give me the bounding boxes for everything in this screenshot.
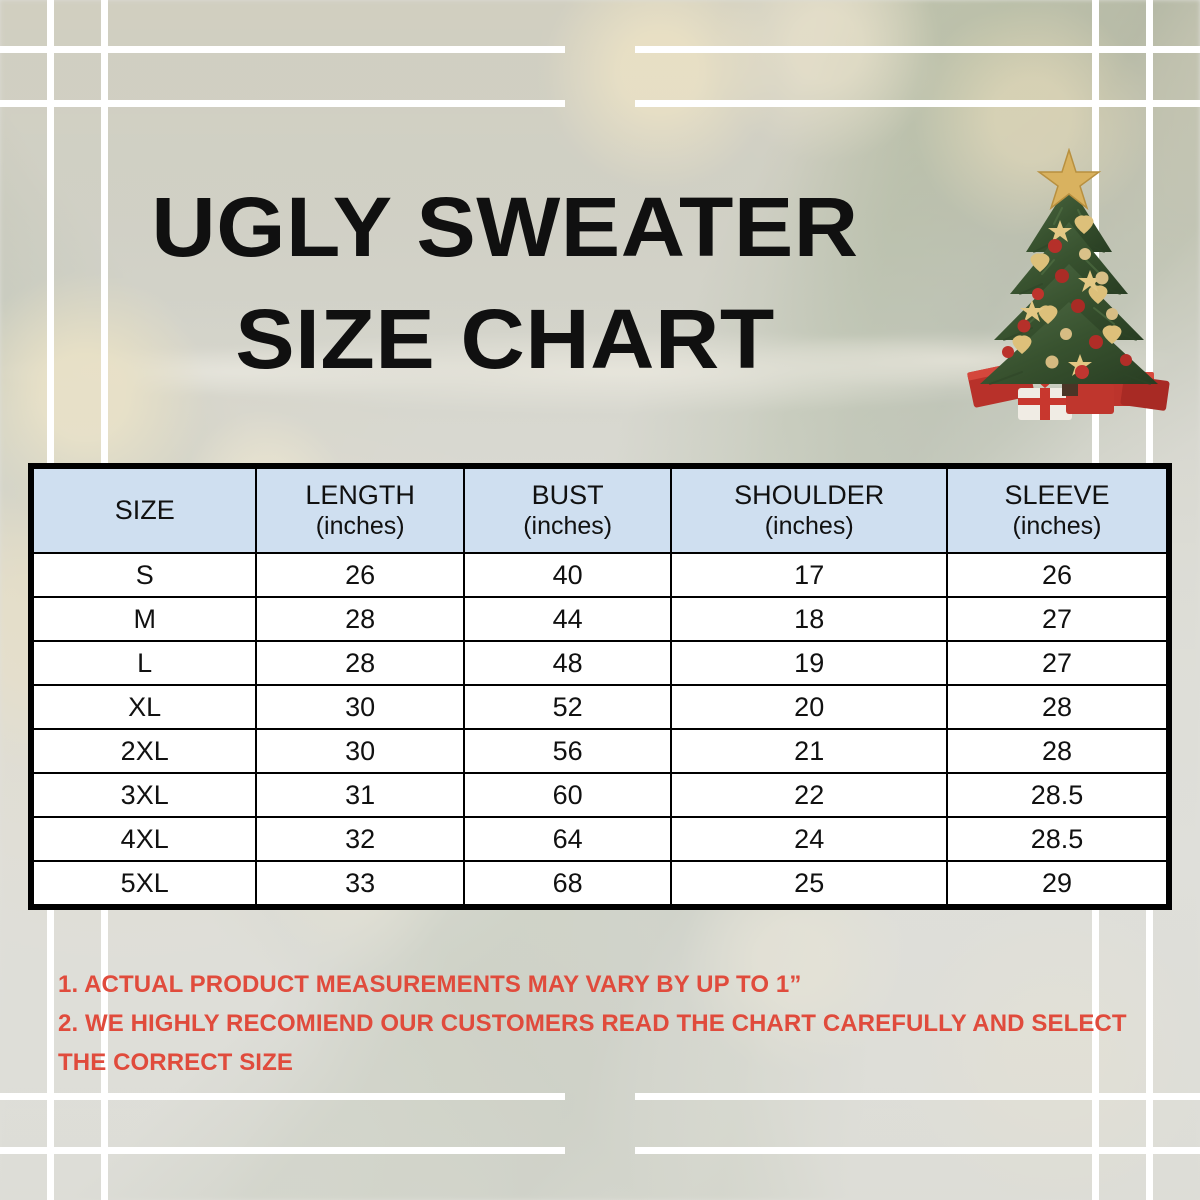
column-header-shoulder-label: SHOULDER: [734, 480, 884, 510]
column-header-bust-unit: (inches): [467, 512, 669, 541]
table-row: 2XL30562128: [33, 729, 1167, 773]
title-line-1: UGLY SWEATER: [0, 172, 1040, 284]
cell-bust: 44: [464, 597, 672, 641]
cell-bust: 68: [464, 861, 672, 905]
column-header-length: LENGTH (inches): [256, 468, 464, 553]
cell-size: S: [33, 553, 256, 597]
title-line-2: SIZE CHART: [0, 284, 1040, 396]
cell-bust: 60: [464, 773, 672, 817]
cell-size: 2XL: [33, 729, 256, 773]
cell-size: 5XL: [33, 861, 256, 905]
cell-sleeve: 28: [947, 729, 1167, 773]
column-header-shoulder-unit: (inches): [674, 512, 944, 541]
cell-shoulder: 25: [671, 861, 947, 905]
cell-shoulder: 20: [671, 685, 947, 729]
size-chart-table-body: S26401726M28441827L28481927XL305220282XL…: [33, 553, 1167, 905]
table-row: L28481927: [33, 641, 1167, 685]
column-header-bust: BUST (inches): [464, 468, 672, 553]
column-header-shoulder: SHOULDER (inches): [671, 468, 947, 553]
cell-sleeve: 28.5: [947, 773, 1167, 817]
cell-length: 26: [256, 553, 464, 597]
cell-bust: 40: [464, 553, 672, 597]
cell-bust: 56: [464, 729, 672, 773]
cell-length: 33: [256, 861, 464, 905]
table-row: 3XL31602228.5: [33, 773, 1167, 817]
column-header-bust-label: BUST: [532, 480, 604, 510]
cell-shoulder: 17: [671, 553, 947, 597]
cell-length: 28: [256, 641, 464, 685]
column-header-sleeve-label: SLEEVE: [1004, 480, 1109, 510]
cell-length: 28: [256, 597, 464, 641]
cell-length: 30: [256, 729, 464, 773]
table-row: 5XL33682529: [33, 861, 1167, 905]
cell-size: L: [33, 641, 256, 685]
cell-size: M: [33, 597, 256, 641]
cell-size: XL: [33, 685, 256, 729]
cell-size: 4XL: [33, 817, 256, 861]
table-header-row: SIZE LENGTH (inches) BUST (inches) SHOUL…: [33, 468, 1167, 553]
size-chart-table: SIZE LENGTH (inches) BUST (inches) SHOUL…: [32, 467, 1168, 906]
column-header-length-label: LENGTH: [305, 480, 415, 510]
column-header-sleeve: SLEEVE (inches): [947, 468, 1167, 553]
cell-shoulder: 19: [671, 641, 947, 685]
cell-bust: 52: [464, 685, 672, 729]
table-row: M28441827: [33, 597, 1167, 641]
table-row: S26401726: [33, 553, 1167, 597]
column-header-length-unit: (inches): [259, 512, 461, 541]
footnote-2: 2. WE HIGHLY RECOMIEND OUR CUSTOMERS REA…: [58, 1005, 1148, 1083]
cell-sleeve: 27: [947, 597, 1167, 641]
cell-shoulder: 22: [671, 773, 947, 817]
cell-sleeve: 28: [947, 685, 1167, 729]
page-title: UGLY SWEATER SIZE CHART: [0, 172, 1040, 395]
cell-sleeve: 29: [947, 861, 1167, 905]
footnotes: 1. ACTUAL PRODUCT MEASUREMENTS MAY VARY …: [58, 966, 1148, 1083]
column-header-size: SIZE: [33, 468, 256, 553]
cell-length: 32: [256, 817, 464, 861]
table-row: XL30522028: [33, 685, 1167, 729]
size-chart-table-container: SIZE LENGTH (inches) BUST (inches) SHOUL…: [28, 463, 1172, 910]
column-header-sleeve-unit: (inches): [950, 512, 1164, 541]
column-header-size-label: SIZE: [115, 495, 175, 525]
table-row: 4XL32642428.5: [33, 817, 1167, 861]
cell-length: 31: [256, 773, 464, 817]
cell-sleeve: 27: [947, 641, 1167, 685]
cell-shoulder: 21: [671, 729, 947, 773]
footnote-1: 1. ACTUAL PRODUCT MEASUREMENTS MAY VARY …: [58, 966, 1148, 1005]
cell-sleeve: 26: [947, 553, 1167, 597]
cell-sleeve: 28.5: [947, 817, 1167, 861]
cell-shoulder: 18: [671, 597, 947, 641]
size-chart-poster: UGLY SWEATER SIZE CHART SIZE LENGTH (inc…: [0, 0, 1200, 1200]
cell-size: 3XL: [33, 773, 256, 817]
cell-bust: 64: [464, 817, 672, 861]
cell-length: 30: [256, 685, 464, 729]
cell-shoulder: 24: [671, 817, 947, 861]
cell-bust: 48: [464, 641, 672, 685]
